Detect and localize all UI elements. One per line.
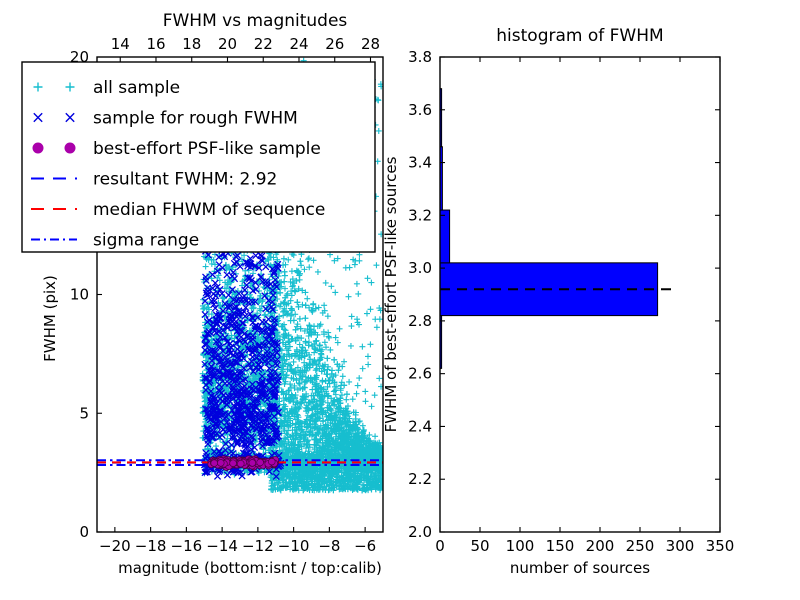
plus-marker xyxy=(350,396,356,402)
plus-marker xyxy=(327,347,333,353)
plus-marker xyxy=(288,318,294,324)
plus-marker xyxy=(277,290,283,296)
plus-marker xyxy=(302,315,308,321)
plus-marker xyxy=(289,306,295,312)
plus-marker xyxy=(340,373,346,379)
plus-marker xyxy=(203,264,209,270)
plus-marker xyxy=(344,391,350,397)
figure-canvas: FWHM vs magnitudes−20−18−16−14−12−10−8−6… xyxy=(0,0,800,600)
plus-marker xyxy=(282,269,288,275)
plus-marker xyxy=(335,367,341,373)
plus-marker xyxy=(297,258,303,264)
plus-marker xyxy=(311,323,317,329)
plus-marker xyxy=(298,262,304,268)
plus-marker xyxy=(324,355,330,361)
plus-marker xyxy=(310,302,316,308)
plus-marker xyxy=(200,306,206,312)
plus-marker xyxy=(262,312,268,318)
plus-marker xyxy=(322,339,328,345)
plus-marker xyxy=(281,279,287,285)
plus-marker xyxy=(331,357,337,363)
plot-svg: FWHM vs magnitudes−20−18−16−14−12−10−8−6… xyxy=(0,0,800,600)
plus-marker xyxy=(366,432,372,438)
plus-marker xyxy=(297,316,303,322)
plus-marker xyxy=(259,298,265,304)
plus-marker xyxy=(293,327,299,333)
plus-marker xyxy=(291,359,297,365)
plus-marker xyxy=(326,335,332,341)
plus-marker xyxy=(372,433,378,439)
plus-marker xyxy=(360,423,366,429)
plus-marker xyxy=(316,305,322,311)
plus-marker xyxy=(343,397,349,403)
plus-marker xyxy=(315,269,321,275)
plus-marker xyxy=(304,296,310,302)
plus-marker xyxy=(281,256,287,262)
plus-marker xyxy=(296,286,302,292)
left-plot-title: FWHM vs magnitudes xyxy=(163,11,348,31)
